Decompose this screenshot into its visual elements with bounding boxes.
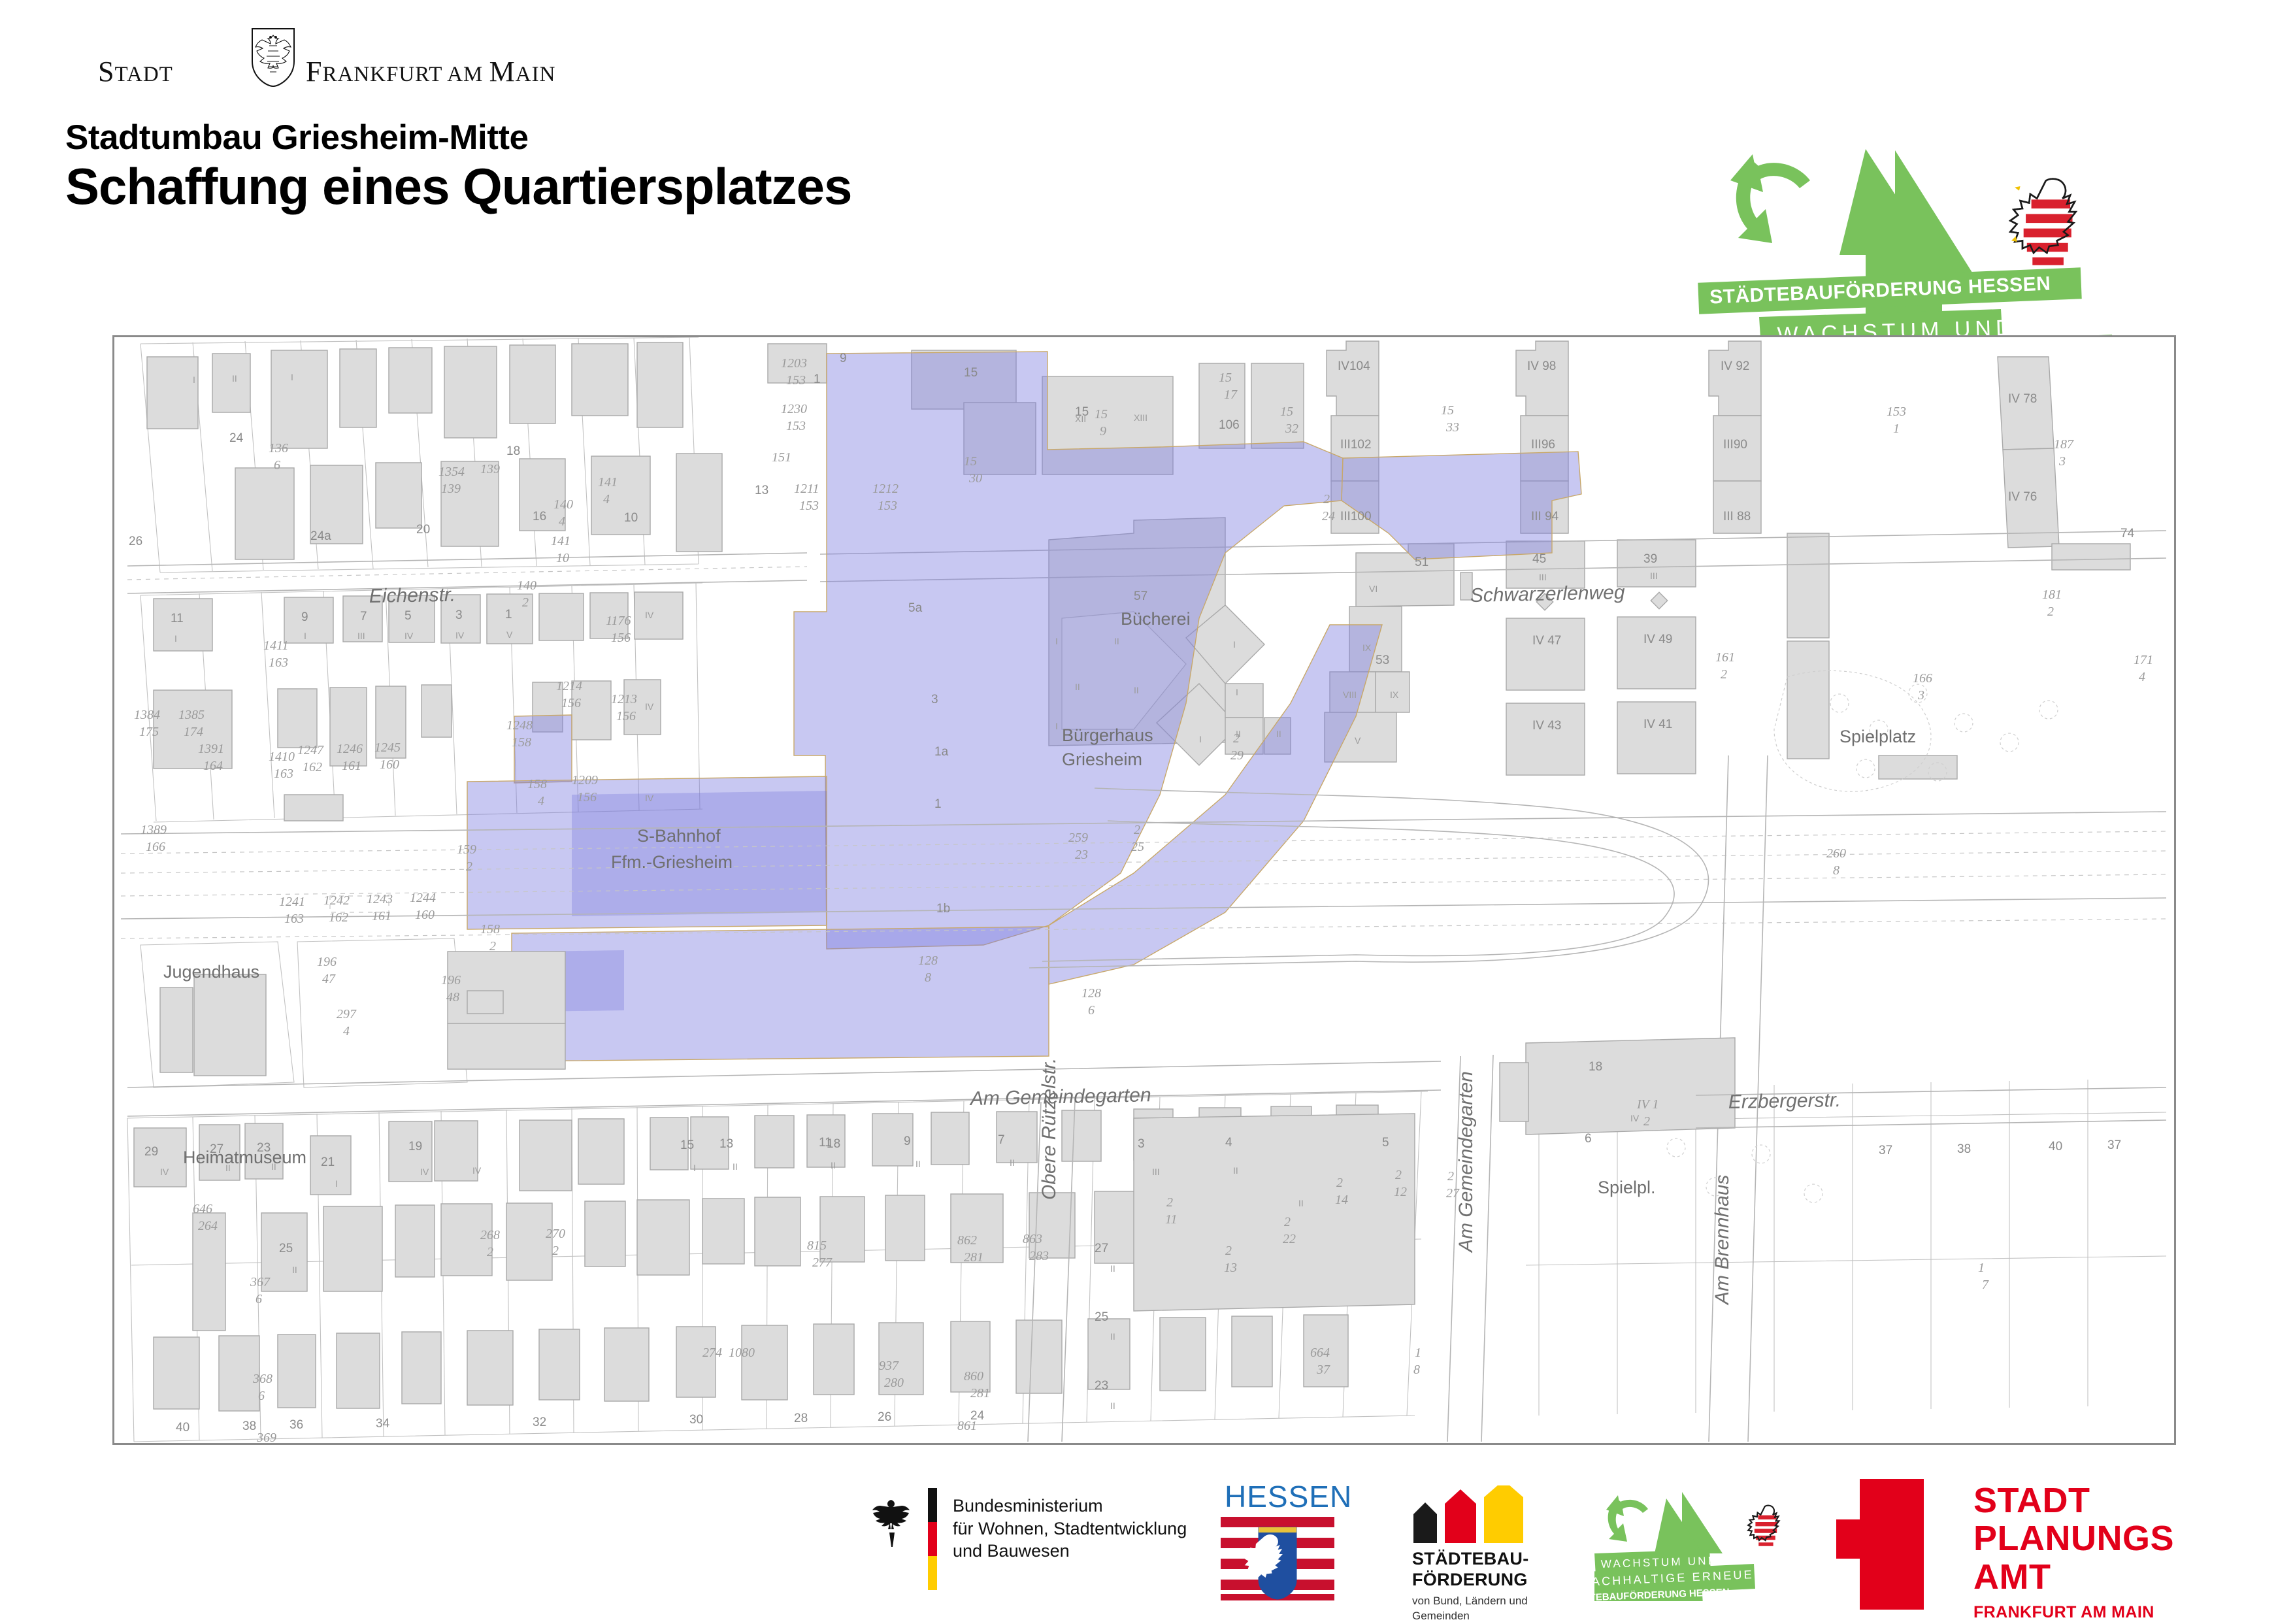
svg-text:1213: 1213	[611, 692, 637, 706]
svg-text:2: 2	[466, 859, 472, 874]
svg-text:9: 9	[840, 352, 847, 365]
svg-text:II: II	[1010, 1157, 1015, 1168]
staedtebau-sub1: von Bund, Ländern und	[1412, 1594, 1528, 1609]
svg-text:I: I	[1236, 687, 1238, 697]
street-label-schwarzerlenweg: Schwarzerlenweg	[1470, 582, 1625, 606]
eichenstr-road	[127, 553, 807, 593]
svg-text:27: 27	[1095, 1242, 1108, 1255]
svg-text:1384: 1384	[134, 708, 160, 722]
svg-text:162: 162	[329, 910, 348, 925]
svg-text:10: 10	[556, 551, 569, 565]
svg-text:III100: III100	[1340, 510, 1372, 523]
svg-text:29: 29	[144, 1145, 158, 1159]
svg-text:28: 28	[794, 1412, 808, 1425]
staedtebau-sub2: Gemeinden	[1412, 1609, 1528, 1624]
svg-text:IV: IV	[420, 1167, 429, 1177]
svg-text:1: 1	[934, 797, 942, 811]
place-label-griesheim: Griesheim	[1062, 750, 1142, 769]
svg-text:1385: 1385	[178, 708, 205, 722]
hessen-coat-of-arms-icon	[1221, 1517, 1334, 1600]
svg-text:10: 10	[624, 511, 638, 525]
svg-text:XIII: XIII	[1134, 412, 1147, 423]
svg-text:25: 25	[1131, 840, 1144, 854]
svg-text:III: III	[1152, 1167, 1160, 1177]
flag-black	[928, 1488, 937, 1522]
svg-text:18: 18	[1589, 1060, 1602, 1074]
svg-text:161: 161	[372, 909, 391, 923]
svg-text:2: 2	[1225, 1244, 1232, 1258]
svg-text:862: 862	[957, 1233, 977, 1248]
svg-text:281: 281	[970, 1386, 990, 1400]
place-label-sbahnhof: S-Bahnhof	[637, 826, 721, 846]
svg-text:XII: XII	[1075, 414, 1086, 424]
place-label-spielpl: Spielpl.	[1598, 1178, 1656, 1197]
svg-text:164: 164	[203, 759, 223, 773]
svg-text:4: 4	[559, 514, 565, 529]
svg-text:15: 15	[1219, 371, 1232, 385]
svg-text:7: 7	[360, 610, 367, 623]
svg-text:7: 7	[998, 1133, 1005, 1147]
svg-text:38: 38	[242, 1419, 256, 1433]
street-label-am-brennhaus: Am Brennhaus	[1711, 1175, 1733, 1306]
svg-text:174: 174	[184, 725, 203, 739]
svg-text:39: 39	[1643, 552, 1657, 566]
svg-text:156: 156	[611, 631, 631, 645]
svg-text:II: II	[1075, 682, 1080, 692]
svg-text:33: 33	[1445, 420, 1459, 435]
hessen-word: HESSEN	[1225, 1479, 1352, 1514]
svg-text:139: 139	[441, 482, 461, 496]
svg-text:I: I	[693, 1163, 696, 1173]
svg-text:106: 106	[1219, 418, 1240, 432]
street-label-am-gemeindegarten: Am Gemeindegarten	[968, 1084, 1151, 1110]
svg-text:24: 24	[1322, 509, 1335, 523]
svg-text:2: 2	[1395, 1168, 1402, 1182]
svg-text:1247: 1247	[297, 743, 324, 757]
svg-text:2: 2	[1721, 667, 1727, 682]
svg-text:IV 41: IV 41	[1643, 718, 1672, 731]
svg-text:21: 21	[321, 1155, 335, 1169]
svg-text:153: 153	[786, 419, 806, 433]
street-label-obere-ruetzelstr: Obere Rützelstr.	[1038, 1058, 1060, 1200]
svg-text:158: 158	[527, 777, 547, 791]
svg-text:II: II	[1110, 1331, 1115, 1342]
svg-text:3: 3	[1138, 1137, 1145, 1151]
svg-text:153: 153	[878, 499, 897, 513]
svg-text:III 94: III 94	[1531, 510, 1559, 523]
street-label-eichenstr: Eichenstr.	[369, 584, 456, 607]
svg-text:13: 13	[719, 1137, 733, 1151]
svg-text:158: 158	[480, 922, 500, 936]
svg-text:29: 29	[1230, 748, 1244, 763]
svg-text:15: 15	[1280, 405, 1293, 419]
svg-text:18: 18	[506, 444, 520, 458]
page-subtitle: Stadtumbau Griesheim-Mitte	[65, 118, 528, 157]
svg-text:I: I	[1055, 721, 1058, 731]
svg-text:158: 158	[512, 735, 531, 750]
svg-text:IV 47: IV 47	[1532, 634, 1561, 648]
svg-text:36: 36	[289, 1418, 303, 1432]
spa-line2: PLANUNGS	[1973, 1519, 2174, 1557]
svg-text:25: 25	[1095, 1310, 1108, 1324]
svg-text:17: 17	[1224, 388, 1238, 402]
svg-text:2: 2	[522, 595, 529, 610]
svg-text:II: II	[1276, 729, 1281, 739]
svg-text:22: 22	[1283, 1232, 1296, 1246]
flag-red	[928, 1522, 937, 1556]
svg-text:38: 38	[1957, 1142, 1971, 1156]
svg-text:3: 3	[931, 693, 938, 706]
svg-text:I: I	[1055, 636, 1058, 646]
svg-text:57: 57	[1134, 589, 1147, 603]
svg-text:II: II	[1110, 1263, 1115, 1274]
svg-text:259: 259	[1068, 831, 1088, 845]
svg-text:II: II	[1134, 685, 1139, 695]
svg-text:III: III	[1539, 572, 1547, 582]
svg-text:367: 367	[250, 1275, 271, 1289]
svg-text:II: II	[1233, 1165, 1238, 1176]
svg-text:1241: 1241	[279, 895, 305, 909]
svg-text:14: 14	[1335, 1193, 1348, 1207]
svg-text:1: 1	[1978, 1261, 1985, 1275]
svg-text:280: 280	[884, 1376, 904, 1390]
svg-text:4: 4	[1225, 1136, 1232, 1150]
svg-text:2: 2	[487, 1245, 493, 1259]
svg-text:IX: IX	[1390, 689, 1399, 700]
svg-text:369: 369	[256, 1431, 276, 1443]
svg-text:37: 37	[1879, 1144, 1892, 1157]
svg-text:140: 140	[517, 578, 536, 593]
svg-text:1: 1	[1893, 422, 1900, 436]
svg-text:15: 15	[1441, 403, 1454, 418]
svg-text:9: 9	[1100, 424, 1106, 439]
svg-text:II: II	[733, 1161, 738, 1172]
svg-text:30: 30	[689, 1413, 703, 1427]
svg-text:1248: 1248	[506, 718, 533, 733]
svg-text:I: I	[304, 631, 306, 641]
svg-text:4: 4	[343, 1024, 350, 1038]
svg-text:I: I	[1199, 734, 1202, 744]
am-gemeindegarten-road	[127, 1061, 1441, 1116]
svg-text:V: V	[506, 629, 513, 640]
svg-text:141: 141	[598, 475, 618, 489]
place-label-heimatmuseum: Heimatmuseum	[183, 1148, 306, 1167]
svg-text:8: 8	[925, 970, 931, 985]
svg-text:11: 11	[171, 612, 184, 625]
svg-text:3: 3	[1917, 688, 1924, 703]
svg-text:2: 2	[1323, 492, 1330, 506]
svg-text:2: 2	[552, 1244, 559, 1258]
svg-text:646: 646	[193, 1202, 212, 1216]
bmwsb-line3: und Bauwesen	[953, 1540, 1187, 1563]
svg-text:140: 140	[553, 497, 573, 512]
svg-text:128: 128	[918, 953, 938, 968]
svg-text:I: I	[1233, 639, 1236, 650]
svg-text:156: 156	[561, 696, 581, 710]
svg-text:III 88: III 88	[1723, 510, 1751, 523]
svg-text:30: 30	[968, 471, 982, 486]
bmwsb-line1: Bundesministerium	[953, 1495, 1187, 1517]
svg-text:III102: III102	[1340, 438, 1372, 452]
svg-text:2: 2	[1643, 1114, 1650, 1129]
svg-text:1: 1	[1415, 1346, 1421, 1360]
svg-text:1b: 1b	[936, 902, 950, 916]
svg-text:16: 16	[533, 510, 546, 523]
svg-text:34: 34	[376, 1417, 390, 1431]
svg-text:I: I	[291, 372, 293, 382]
svg-text:128: 128	[1081, 986, 1101, 1001]
svg-text:VIII: VIII	[1343, 689, 1357, 700]
svg-text:IV: IV	[455, 630, 465, 640]
svg-text:163: 163	[269, 655, 288, 670]
svg-text:15: 15	[680, 1138, 694, 1152]
svg-text:1242: 1242	[323, 893, 350, 908]
footer-logo-bar: Bundesministerium für Wohnen, Stadtentwi…	[0, 1474, 2293, 1604]
svg-text:153: 153	[1887, 405, 1906, 419]
svg-text:175: 175	[139, 725, 159, 739]
svg-text:153: 153	[799, 499, 819, 513]
svg-text:161: 161	[1715, 650, 1735, 665]
svg-text:20: 20	[416, 523, 430, 537]
svg-text:IV 92: IV 92	[1721, 359, 1749, 373]
svg-text:270: 270	[546, 1227, 565, 1241]
svg-text:3: 3	[2058, 454, 2066, 469]
svg-text:2: 2	[1284, 1215, 1291, 1229]
svg-text:II: II	[232, 373, 237, 384]
svg-text:III: III	[1650, 571, 1658, 581]
place-label-ffm-griesheim: Ffm.-Griesheim	[611, 852, 733, 872]
svg-text:IV: IV	[472, 1165, 482, 1176]
page-title: Schaffung eines Quartiersplatzes	[65, 157, 851, 216]
frankfurt-eagle-crest-icon	[250, 26, 297, 89]
svg-text:368: 368	[252, 1372, 272, 1386]
svg-text:1410: 1410	[269, 750, 295, 764]
svg-text:664: 664	[1310, 1346, 1330, 1360]
street-label-erzbergerstr: Erzbergerstr.	[1728, 1089, 1841, 1113]
svg-text:274: 274	[702, 1346, 722, 1360]
svg-text:IV 1: IV 1	[1636, 1097, 1659, 1112]
svg-text:32: 32	[533, 1416, 546, 1429]
highlight-east-wedge	[1342, 452, 1581, 559]
svg-text:6: 6	[1585, 1132, 1592, 1146]
svg-text:1203: 1203	[781, 356, 807, 371]
svg-text:4: 4	[603, 492, 610, 506]
svg-text:1: 1	[814, 373, 821, 386]
house-shapes-icon	[1408, 1485, 1539, 1543]
svg-text:8: 8	[1833, 863, 1839, 878]
svg-text:1080: 1080	[729, 1346, 755, 1360]
svg-text:37: 37	[2107, 1138, 2121, 1152]
svg-text:9: 9	[904, 1135, 911, 1148]
svg-text:6: 6	[274, 458, 280, 472]
city-logo: SSTADTTADT FRANKFURT AM MAIN	[98, 38, 516, 93]
svg-text:13: 13	[1224, 1261, 1237, 1275]
svg-text:1246: 1246	[337, 742, 363, 756]
svg-text:153: 153	[786, 373, 806, 388]
svg-text:1176: 1176	[606, 614, 631, 628]
svg-text:IV: IV	[160, 1167, 169, 1177]
svg-text:15: 15	[1095, 407, 1108, 422]
svg-text:27: 27	[210, 1142, 223, 1156]
svg-text:1245: 1245	[374, 740, 401, 755]
place-label-jugendhaus: Jugendhaus	[163, 962, 259, 982]
svg-text:268: 268	[480, 1228, 500, 1242]
svg-text:15: 15	[964, 366, 978, 380]
svg-text:37: 37	[1316, 1363, 1330, 1377]
place-label-spielplatz: Spielplatz	[1839, 727, 1916, 746]
svg-text:160: 160	[380, 757, 399, 772]
svg-text:1: 1	[505, 608, 512, 621]
svg-text:1243: 1243	[367, 892, 393, 906]
svg-text:III90: III90	[1723, 438, 1747, 452]
svg-text:4: 4	[2139, 670, 2145, 684]
svg-text:74: 74	[2120, 527, 2135, 540]
svg-text:1211: 1211	[794, 482, 819, 496]
svg-text:1209: 1209	[572, 773, 598, 787]
svg-text:181: 181	[2042, 588, 2062, 602]
wachstum-footer-logo: WACHSTUM UND NACHHALTIGE ERNEUERUNG STÄD…	[1594, 1480, 1804, 1601]
svg-text:281: 281	[964, 1250, 983, 1265]
svg-text:40: 40	[176, 1421, 190, 1434]
svg-text:159: 159	[457, 842, 476, 857]
svg-text:25: 25	[279, 1242, 293, 1255]
hessen-logo: HESSEN	[1221, 1479, 1338, 1597]
stadtplanungsamt-block-mark-icon	[1836, 1479, 1947, 1610]
svg-text:V: V	[1355, 735, 1361, 746]
svg-text:171: 171	[2134, 653, 2153, 667]
svg-text:937: 937	[879, 1359, 899, 1373]
svg-text:1a: 1a	[934, 745, 949, 759]
site-map[interactable]: Eichenstr. Schwarzerlenweg Am Gemeindega…	[112, 335, 2176, 1445]
svg-text:156: 156	[577, 790, 597, 804]
svg-text:2: 2	[489, 939, 496, 953]
svg-text:5a: 5a	[908, 601, 923, 615]
svg-text:II: II	[916, 1159, 921, 1169]
svg-text:24a: 24a	[310, 529, 331, 543]
flag-gold	[928, 1556, 937, 1590]
svg-text:1391: 1391	[198, 742, 224, 756]
svg-text:15: 15	[964, 454, 977, 469]
svg-text:40: 40	[2049, 1140, 2062, 1153]
svg-text:264: 264	[198, 1219, 218, 1233]
svg-text:860: 860	[964, 1369, 983, 1384]
svg-text:II: II	[831, 1160, 836, 1170]
svg-text:160: 160	[415, 908, 435, 922]
place-label-buecherei: Bücherei	[1121, 609, 1191, 629]
svg-text:IV: IV	[645, 793, 654, 803]
svg-text:1411: 1411	[263, 638, 289, 653]
svg-text:163: 163	[274, 767, 293, 781]
svg-text:136: 136	[269, 441, 288, 456]
city-logo-word-frankfurt: FRANKFURT AM MAIN	[306, 55, 555, 88]
svg-text:II: II	[292, 1265, 297, 1275]
svg-text:53: 53	[1376, 654, 1389, 667]
svg-text:18: 18	[827, 1137, 840, 1151]
svg-text:III96: III96	[1531, 438, 1555, 452]
svg-text:1212: 1212	[872, 482, 899, 496]
svg-text:II: II	[271, 1161, 276, 1172]
svg-text:2: 2	[1447, 1169, 1454, 1184]
svg-text:5: 5	[404, 609, 412, 623]
svg-text:166: 166	[146, 840, 165, 854]
svg-text:II: II	[1110, 1400, 1115, 1411]
svg-text:51: 51	[1415, 555, 1428, 569]
svg-text:23: 23	[1075, 848, 1088, 862]
svg-text:12: 12	[1394, 1185, 1407, 1199]
svg-text:I: I	[174, 633, 177, 644]
svg-text:4: 4	[538, 794, 544, 808]
svg-text:23: 23	[1095, 1379, 1108, 1393]
svg-text:VI: VI	[1369, 584, 1377, 594]
svg-text:297: 297	[337, 1007, 357, 1021]
svg-text:166: 166	[1913, 671, 1932, 686]
svg-text:III: III	[357, 631, 365, 641]
spa-line3: AMT	[1973, 1558, 2174, 1596]
svg-text:815: 815	[807, 1238, 827, 1253]
svg-text:23: 23	[257, 1141, 271, 1155]
svg-text:283: 283	[1029, 1249, 1049, 1263]
svg-text:863: 863	[1023, 1232, 1042, 1246]
svg-text:48: 48	[446, 990, 459, 1004]
svg-text:24: 24	[229, 431, 244, 445]
svg-text:1214: 1214	[556, 679, 582, 693]
svg-text:11: 11	[1165, 1212, 1178, 1227]
svg-text:163: 163	[284, 912, 304, 926]
spa-line1: STADT	[1973, 1482, 2174, 1519]
svg-text:9: 9	[301, 610, 308, 624]
svg-text:187: 187	[2054, 437, 2074, 452]
svg-text:260: 260	[1826, 846, 1846, 861]
svg-text:1230: 1230	[781, 402, 807, 416]
svg-text:IV 49: IV 49	[1643, 633, 1672, 646]
svg-text:IV 98: IV 98	[1527, 359, 1556, 373]
svg-text:I: I	[335, 1178, 338, 1189]
svg-text:IV 78: IV 78	[2008, 392, 2037, 406]
svg-text:5: 5	[1382, 1136, 1389, 1150]
svg-text:162: 162	[303, 760, 322, 774]
svg-text:6: 6	[258, 1389, 265, 1403]
svg-text:1354: 1354	[438, 465, 465, 479]
recycle-arrow-icon	[1730, 154, 1810, 243]
svg-text:II: II	[1114, 636, 1119, 646]
bmwsb-line2: für Wohnen, Stadtentwicklung	[953, 1517, 1187, 1540]
svg-text:45: 45	[1532, 552, 1546, 566]
svg-text:I: I	[193, 374, 195, 385]
svg-text:7: 7	[1982, 1278, 1989, 1292]
svg-text:2: 2	[1166, 1195, 1173, 1210]
svg-text:IX: IX	[1362, 642, 1372, 653]
svg-text:196: 196	[441, 973, 461, 987]
svg-text:141: 141	[551, 534, 570, 548]
svg-text:26: 26	[129, 535, 142, 548]
city-logo-word-stadt: SSTADTTADT	[98, 55, 173, 88]
svg-text:3: 3	[455, 608, 463, 622]
svg-text:6: 6	[1088, 1003, 1095, 1018]
place-label-buergerhaus: Bürgerhaus	[1062, 725, 1153, 745]
staedtebau-line1: STÄDTEBAU-	[1412, 1548, 1529, 1569]
svg-text:2: 2	[1134, 823, 1140, 837]
svg-text:II: II	[1298, 1198, 1304, 1208]
svg-text:IV: IV	[404, 631, 414, 641]
svg-text:161: 161	[342, 759, 361, 773]
svg-text:II: II	[225, 1163, 231, 1173]
svg-text:IV: IV	[1630, 1113, 1640, 1123]
svg-text:IV 76: IV 76	[2008, 490, 2037, 504]
hessen-lion-icon	[2010, 179, 2075, 283]
svg-text:6: 6	[256, 1292, 262, 1306]
svg-text:II: II	[1236, 729, 1241, 739]
svg-text:8: 8	[1413, 1363, 1420, 1377]
